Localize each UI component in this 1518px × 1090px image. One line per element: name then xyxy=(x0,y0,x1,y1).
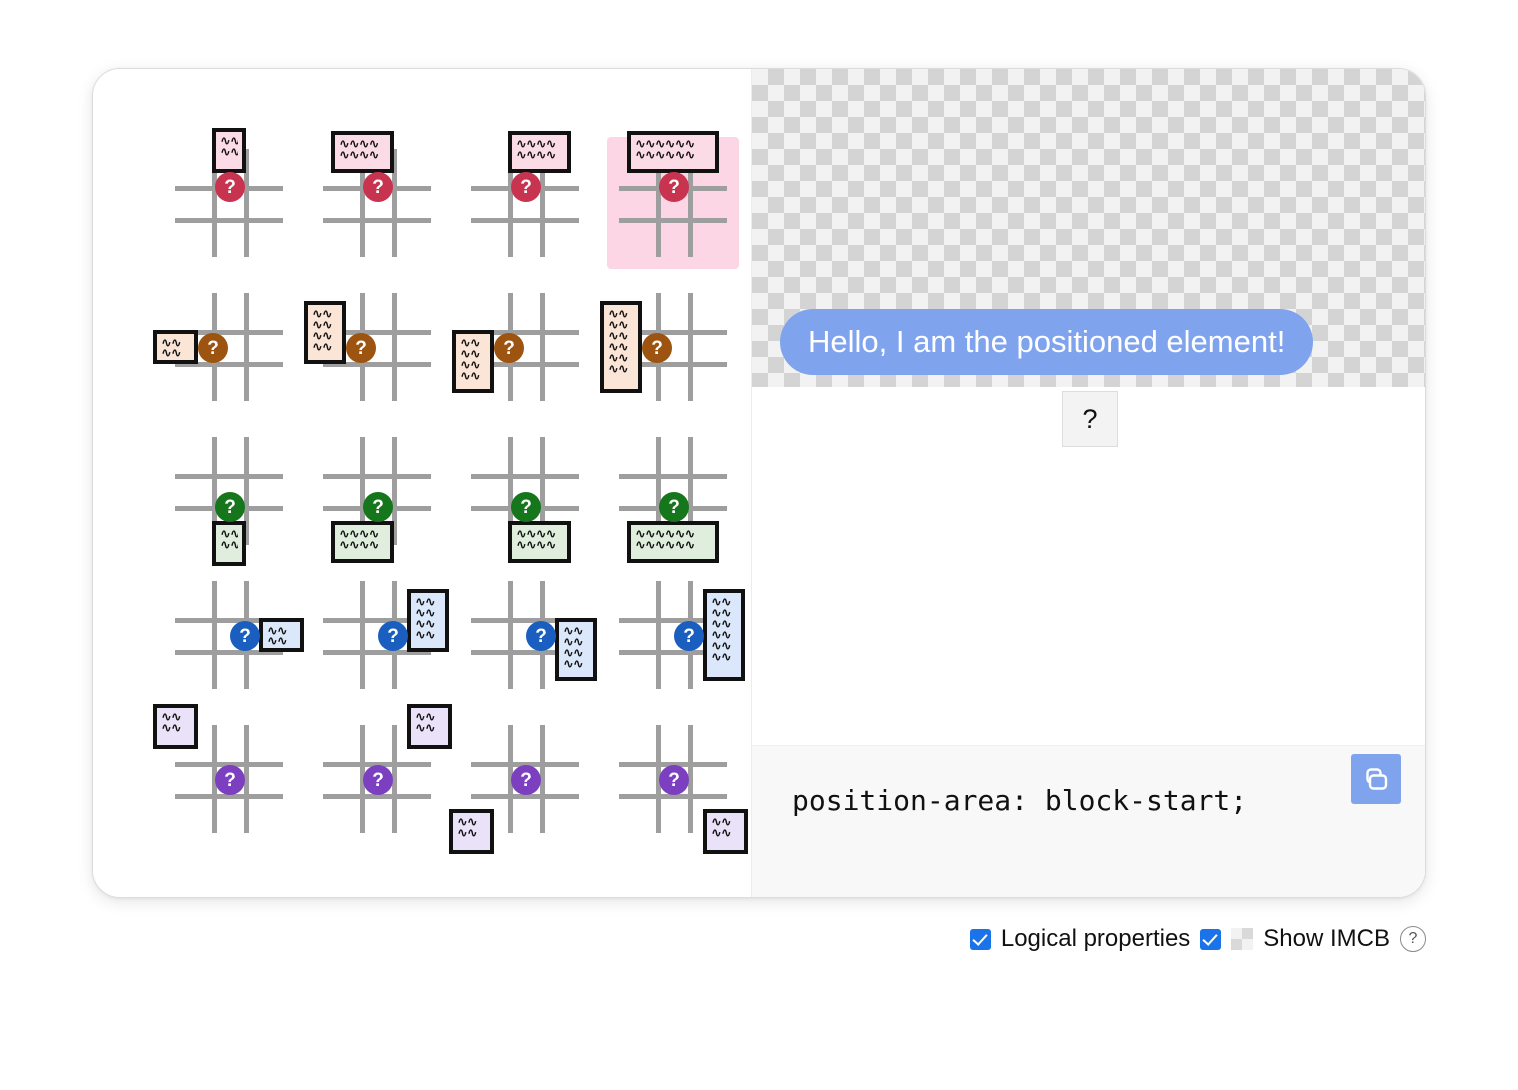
containing-block-grid-icon: ∿∿∿∿∿∿∿∿? xyxy=(329,587,425,683)
grid-line xyxy=(244,293,249,401)
containing-block-grid-icon: ∿∿∿∿? xyxy=(625,731,721,827)
demo-card: ∿∿∿∿?∿∿∿∿∿∿∿∿?∿∿∿∿∿∿∿∿?∿∿∿∿∿∿∿∿∿∿∿∿?∿∿∿∿… xyxy=(92,68,1426,898)
position-area-option[interactable]: ∿∿∿∿∿∿∿∿? xyxy=(459,569,591,701)
squiggle-line: ∿∿ xyxy=(161,713,190,722)
option-positioned-box: ∿∿∿∿∿∿∿∿ xyxy=(508,131,571,173)
option-positioned-box: ∿∿∿∿ xyxy=(212,521,246,566)
option-positioned-box: ∿∿∿∿∿∿∿∿ xyxy=(452,330,494,393)
option-positioned-box: ∿∿∿∿ xyxy=(153,704,198,749)
grid-line xyxy=(323,218,431,223)
squiggle-line: ∿∿∿∿ xyxy=(516,541,563,550)
option-positioned-box: ∿∿∿∿∿∿∿∿ xyxy=(407,589,449,652)
squiggle-line: ∿∿∿∿ xyxy=(516,140,563,149)
option-positioned-box: ∿∿∿∿ xyxy=(703,809,748,854)
squiggle-line: ∿∿ xyxy=(563,649,589,658)
position-area-option[interactable]: ∿∿∿∿? xyxy=(163,137,295,269)
squiggle-line: ∿∿∿∿ xyxy=(339,530,386,539)
squiggle-line: ∿∿ xyxy=(608,365,634,374)
containing-block-grid-icon: ∿∿∿∿? xyxy=(181,731,277,827)
position-area-picker-pane: ∿∿∿∿?∿∿∿∿∿∿∿∿?∿∿∿∿∿∿∿∿?∿∿∿∿∿∿∿∿∿∿∿∿?∿∿∿∿… xyxy=(93,69,751,897)
option-anchor-dot: ? xyxy=(511,765,541,795)
squiggle-line: ∿∿ xyxy=(312,332,338,341)
option-positioned-box: ∿∿∿∿∿∿∿∿∿∿∿∿ xyxy=(627,521,719,563)
squiggle-line: ∿∿∿∿ xyxy=(516,530,563,539)
containing-block-grid-icon: ∿∿∿∿? xyxy=(477,731,573,827)
squiggle-text: ∿∿∿∿ xyxy=(711,818,740,847)
demo-controls: Logical properties Show IMCB ? xyxy=(970,925,1426,953)
squiggle-line: ∿∿ xyxy=(608,321,634,330)
position-area-option[interactable]: ∿∿∿∿∿∿∿∿? xyxy=(311,569,443,701)
containing-block-grid-icon: ∿∿∿∿∿∿∿∿? xyxy=(329,299,425,395)
position-area-option[interactable]: ∿∿∿∿∿∿∿∿∿∿∿∿? xyxy=(607,281,739,413)
squiggle-line: ∿∿ xyxy=(563,627,589,636)
option-anchor-dot: ? xyxy=(494,333,524,363)
squiggle-line: ∿∿ xyxy=(161,349,190,357)
position-area-option[interactable]: ∿∿∿∿∿∿∿∿? xyxy=(459,281,591,413)
option-anchor-dot: ? xyxy=(642,333,672,363)
squiggle-line: ∿∿ xyxy=(608,332,634,341)
squiggle-text: ∿∿∿∿∿∿∿∿ xyxy=(312,310,338,357)
option-positioned-box: ∿∿∿∿∿∿∿∿∿∿∿∿ xyxy=(627,131,719,173)
option-anchor-dot: ? xyxy=(526,621,556,651)
option-anchor-dot: ? xyxy=(378,621,408,651)
position-area-option[interactable]: ∿∿∿∿∿∿∿∿? xyxy=(459,425,591,557)
squiggle-line: ∿∿ xyxy=(415,631,441,640)
squiggle-text: ∿∿∿∿∿∿∿∿∿∿∿∿ xyxy=(635,140,711,166)
option-anchor-dot: ? xyxy=(215,492,245,522)
squiggle-line: ∿∿ xyxy=(457,829,486,838)
squiggle-line: ∿∿ xyxy=(563,660,589,669)
squiggle-line: ∿∿ xyxy=(608,343,634,352)
position-area-option[interactable]: ∿∿∿∿? xyxy=(311,713,443,845)
containing-block-grid-icon: ∿∿∿∿∿∿∿∿∿∿∿∿? xyxy=(625,299,721,395)
option-anchor-dot: ? xyxy=(363,172,393,202)
show-imcb-checkbox[interactable] xyxy=(1200,929,1221,950)
option-anchor-dot: ? xyxy=(659,765,689,795)
squiggle-line: ∿∿ xyxy=(161,724,190,733)
squiggle-text: ∿∿∿∿∿∿∿∿∿∿∿∿ xyxy=(635,530,711,556)
squiggle-line: ∿∿ xyxy=(711,818,740,827)
squiggle-text: ∿∿∿∿ xyxy=(161,339,190,357)
squiggle-text: ∿∿∿∿∿∿∿∿ xyxy=(563,627,589,674)
grid-line xyxy=(540,293,545,401)
squiggle-text: ∿∿∿∿ xyxy=(267,627,296,645)
position-area-option[interactable]: ∿∿∿∿∿∿∿∿∿∿∿∿? xyxy=(607,137,739,269)
squiggle-line: ∿∿ xyxy=(711,829,740,838)
grid-line xyxy=(360,581,365,689)
squiggle-line: ∿∿ xyxy=(312,343,338,352)
squiggle-line: ∿∿ xyxy=(220,137,238,146)
squiggle-line: ∿∿ xyxy=(161,339,190,347)
squiggle-line: ∿∿ xyxy=(460,339,486,348)
squiggle-text: ∿∿∿∿∿∿∿∿ xyxy=(516,140,563,166)
containing-block-grid-icon: ∿∿∿∿? xyxy=(181,443,277,539)
option-positioned-box: ∿∿∿∿∿∿∿∿ xyxy=(304,301,346,364)
option-anchor-dot: ? xyxy=(674,621,704,651)
grid-line xyxy=(212,581,217,689)
squiggle-text: ∿∿∿∿ xyxy=(415,713,444,742)
help-icon[interactable]: ? xyxy=(1400,926,1426,952)
containing-block-grid-icon: ∿∿∿∿∿∿∿∿? xyxy=(477,299,573,395)
squiggle-line: ∿∿∿∿ xyxy=(339,140,386,149)
squiggle-line: ∿∿ xyxy=(608,310,634,319)
option-positioned-box: ∿∿∿∿ xyxy=(259,618,304,652)
code-pane: position-area: block-start; xyxy=(752,745,1425,897)
containing-block-grid-icon: ∿∿∿∿∿∿∿∿? xyxy=(329,155,425,251)
option-positioned-box: ∿∿∿∿∿∿∿∿ xyxy=(508,521,571,563)
position-area-option[interactable]: ∿∿∿∿∿∿∿∿? xyxy=(459,137,591,269)
position-area-option[interactable]: ∿∿∿∿∿∿∿∿? xyxy=(311,137,443,269)
position-area-option[interactable]: ∿∿∿∿? xyxy=(163,425,295,557)
squiggle-line: ∿∿∿∿∿∿ xyxy=(635,151,711,160)
squiggle-line: ∿∿∿∿ xyxy=(516,151,563,160)
option-positioned-box: ∿∿∿∿ xyxy=(449,809,494,854)
squiggle-line: ∿∿ xyxy=(711,620,737,629)
squiggle-line: ∿∿ xyxy=(220,541,238,550)
logical-properties-label[interactable]: Logical properties xyxy=(1001,925,1190,953)
option-anchor-dot: ? xyxy=(511,172,541,202)
squiggle-line: ∿∿ xyxy=(460,372,486,381)
squiggle-line: ∿∿ xyxy=(711,642,737,651)
positioned-element: Hello, I am the positioned element! xyxy=(780,309,1313,375)
squiggle-line: ∿∿ xyxy=(415,598,441,607)
option-anchor-dot: ? xyxy=(215,172,245,202)
squiggle-line: ∿∿ xyxy=(220,148,238,157)
option-anchor-dot: ? xyxy=(346,333,376,363)
squiggle-line: ∿∿ xyxy=(460,350,486,359)
option-anchor-dot: ? xyxy=(363,492,393,522)
containing-block-grid-icon: ∿∿∿∿∿∿∿∿? xyxy=(477,587,573,683)
imcb-swatch-icon xyxy=(1231,928,1253,950)
grid-line xyxy=(656,581,661,689)
option-positioned-box: ∿∿∿∿∿∿∿∿∿∿∿∿ xyxy=(703,589,745,681)
grid-line xyxy=(323,474,431,479)
squiggle-line: ∿∿∿∿∿∿ xyxy=(635,140,711,149)
squiggle-line: ∿∿ xyxy=(267,627,296,635)
squiggle-line: ∿∿ xyxy=(711,653,737,662)
logical-properties-checkbox[interactable] xyxy=(970,929,991,950)
squiggle-line: ∿∿∿∿ xyxy=(339,151,386,160)
option-positioned-box: ∿∿∿∿ xyxy=(212,128,246,173)
squiggle-text: ∿∿∿∿ xyxy=(220,137,238,166)
containing-block-grid-icon: ∿∿∿∿∿∿∿∿? xyxy=(477,443,573,539)
copy-icon xyxy=(1362,765,1390,793)
squiggle-text: ∿∿∿∿ xyxy=(161,713,190,742)
option-positioned-box: ∿∿∿∿∿∿∿∿ xyxy=(331,521,394,563)
position-area-option[interactable]: ∿∿∿∿∿∿∿∿∿∿∿∿? xyxy=(607,425,739,557)
grid-line xyxy=(471,218,579,223)
containing-block-grid-icon: ∿∿∿∿∿∿∿∿? xyxy=(329,443,425,539)
option-positioned-box: ∿∿∿∿∿∿∿∿ xyxy=(331,131,394,173)
squiggle-line: ∿∿ xyxy=(312,310,338,319)
option-anchor-dot: ? xyxy=(230,621,260,651)
squiggle-line: ∿∿ xyxy=(460,361,486,370)
option-anchor-dot: ? xyxy=(363,765,393,795)
squiggle-text: ∿∿∿∿∿∿∿∿∿∿∿∿ xyxy=(711,598,737,674)
squiggle-line: ∿∿ xyxy=(711,609,737,618)
squiggle-line: ∿∿ xyxy=(267,637,296,645)
option-positioned-box: ∿∿∿∿∿∿∿∿ xyxy=(555,618,597,681)
position-area-option[interactable]: ∿∿∿∿? xyxy=(163,569,295,701)
preview-pane: Hello, I am the positioned element! ? po… xyxy=(751,69,1425,897)
grid-line xyxy=(508,581,513,689)
squiggle-line: ∿∿ xyxy=(415,713,444,722)
squiggle-text: ∿∿∿∿∿∿∿∿ xyxy=(339,530,386,556)
squiggle-line: ∿∿∿∿∿∿ xyxy=(635,530,711,539)
containing-block-grid-icon: ∿∿∿∿? xyxy=(181,587,277,683)
position-area-option[interactable]: ∿∿∿∿? xyxy=(163,713,295,845)
grid-line xyxy=(619,218,727,223)
squiggle-text: ∿∿∿∿∿∿∿∿ xyxy=(460,339,486,386)
grid-line xyxy=(175,218,283,223)
containing-block-grid-icon: ∿∿∿∿? xyxy=(181,155,277,251)
position-area-option[interactable]: ∿∿∿∿∿∿∿∿∿∿∿∿? xyxy=(607,569,739,701)
containing-block-grid-icon: ∿∿∿∿∿∿∿∿∿∿∿∿? xyxy=(625,443,721,539)
squiggle-line: ∿∿ xyxy=(457,818,486,827)
position-area-option[interactable]: ∿∿∿∿? xyxy=(459,713,591,845)
squiggle-line: ∿∿ xyxy=(415,724,444,733)
position-area-option[interactable]: ∿∿∿∿? xyxy=(163,281,295,413)
squiggle-text: ∿∿∿∿∿∿∿∿ xyxy=(516,530,563,556)
squiggle-line: ∿∿∿∿ xyxy=(339,541,386,550)
option-anchor-dot: ? xyxy=(659,172,689,202)
squiggle-line: ∿∿∿∿∿∿ xyxy=(635,541,711,550)
position-area-option[interactable]: ∿∿∿∿? xyxy=(607,713,739,845)
squiggle-text: ∿∿∿∿∿∿∿∿∿∿∿∿ xyxy=(608,310,634,386)
squiggle-line: ∿∿ xyxy=(563,638,589,647)
position-area-demo: ∿∿∿∿?∿∿∿∿∿∿∿∿?∿∿∿∿∿∿∿∿?∿∿∿∿∿∿∿∿∿∿∿∿?∿∿∿∿… xyxy=(0,0,1518,1090)
grid-line xyxy=(688,293,693,401)
containing-block-grid-icon: ∿∿∿∿∿∿∿∿? xyxy=(477,155,573,251)
squiggle-line: ∿∿ xyxy=(220,530,238,539)
show-imcb-label[interactable]: Show IMCB xyxy=(1263,925,1390,953)
containing-block-grid-icon: ∿∿∿∿∿∿∿∿∿∿∿∿? xyxy=(625,155,721,251)
option-positioned-box: ∿∿∿∿ xyxy=(407,704,452,749)
option-anchor-dot: ? xyxy=(198,333,228,363)
squiggle-text: ∿∿∿∿∿∿∿∿ xyxy=(339,140,386,166)
anchor-element[interactable]: ? xyxy=(1062,391,1118,447)
option-anchor-dot: ? xyxy=(659,492,689,522)
position-area-option[interactable]: ∿∿∿∿∿∿∿∿? xyxy=(311,425,443,557)
squiggle-text: ∿∿∿∿ xyxy=(457,818,486,847)
code-declaration: position-area: block-start; xyxy=(792,784,1247,817)
grid-line xyxy=(471,474,579,479)
grid-line xyxy=(175,474,283,479)
squiggle-line: ∿∿ xyxy=(711,598,737,607)
grid-line xyxy=(619,474,727,479)
squiggle-line: ∿∿ xyxy=(312,321,338,330)
option-anchor-dot: ? xyxy=(511,492,541,522)
squiggle-line: ∿∿ xyxy=(608,354,634,363)
copy-code-button[interactable] xyxy=(1351,754,1401,804)
position-area-option-grid[interactable]: ∿∿∿∿?∿∿∿∿∿∿∿∿?∿∿∿∿∿∿∿∿?∿∿∿∿∿∿∿∿∿∿∿∿?∿∿∿∿… xyxy=(163,137,739,845)
squiggle-text: ∿∿∿∿ xyxy=(220,530,238,559)
option-positioned-box: ∿∿∿∿∿∿∿∿∿∿∿∿ xyxy=(600,301,642,393)
squiggle-line: ∿∿ xyxy=(415,609,441,618)
grid-line xyxy=(392,293,397,401)
squiggle-line: ∿∿ xyxy=(711,631,737,640)
squiggle-text: ∿∿∿∿∿∿∿∿ xyxy=(415,598,441,645)
containing-block-grid-icon: ∿∿∿∿? xyxy=(181,299,277,395)
containing-block-grid-icon: ∿∿∿∿∿∿∿∿∿∿∿∿? xyxy=(625,587,721,683)
option-anchor-dot: ? xyxy=(215,765,245,795)
option-positioned-box: ∿∿∿∿ xyxy=(153,330,198,364)
squiggle-line: ∿∿ xyxy=(415,620,441,629)
containing-block-grid-icon: ∿∿∿∿? xyxy=(329,731,425,827)
position-area-option[interactable]: ∿∿∿∿∿∿∿∿? xyxy=(311,281,443,413)
